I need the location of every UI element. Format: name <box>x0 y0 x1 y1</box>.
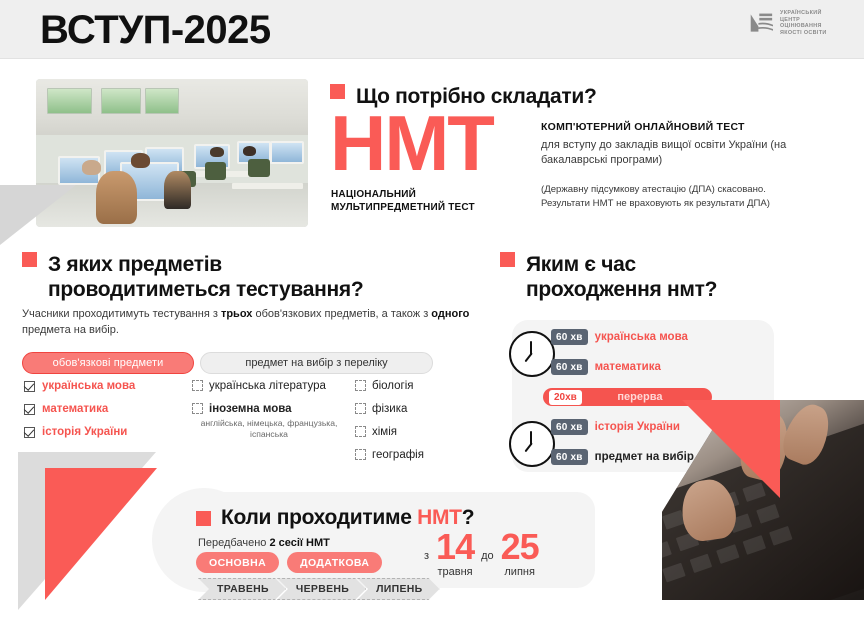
timing-row: 60 хв предмет на вибір <box>551 449 694 465</box>
date-to-prefix: до <box>481 550 494 562</box>
required-subjects-list: українська мова математика історія Украї… <box>24 380 135 449</box>
required-subjects-pill: обов'язкові предмети <box>22 352 194 374</box>
list-item[interactable]: історія України <box>24 426 135 438</box>
session-pill-main[interactable]: ОСНОВНА <box>196 552 279 573</box>
list-item[interactable]: фізика <box>355 403 465 416</box>
break-duration-badge: 20хв <box>549 390 582 405</box>
timing-row: 60 хв історія України <box>551 419 680 435</box>
checkbox-empty-icon[interactable] <box>355 426 366 437</box>
list-item[interactable]: біологія <box>355 380 465 393</box>
nmt-expansion: НАЦІОНАЛЬНИЙ МУЛЬТИПРЕДМЕТНИЙ ТЕСТ <box>331 188 475 214</box>
subject-label: біологія <box>372 380 414 393</box>
date-to-day: 25 <box>501 530 539 564</box>
nmt-description: КОМП'ЮТЕРНИЙ ОНЛАЙНОВИЙ ТЕСТ для вступу … <box>541 120 801 210</box>
date-from: 14 травня <box>436 530 474 578</box>
subject-label: українська мова <box>42 380 135 392</box>
timing-subject-label: українська мова <box>595 331 688 343</box>
optional-subjects-pill: предмет на вибір з переліку <box>200 352 433 374</box>
bullet-square-icon <box>22 252 37 267</box>
nmt-expansion-line1: НАЦІОНАЛЬНИЙ <box>331 188 475 201</box>
heading-when: Коли проходитиме НМТ? <box>196 506 474 530</box>
checkbox-checked-icon[interactable] <box>24 427 35 438</box>
duration-badge: 60 хв <box>551 419 588 435</box>
checkbox-checked-icon[interactable] <box>24 381 35 392</box>
list-item[interactable]: іноземна мова <box>192 403 342 416</box>
checkbox-empty-icon[interactable] <box>355 380 366 391</box>
timing-subject-label: математика <box>595 361 661 373</box>
foreign-language-options: англійська, німецька, французька, іспанс… <box>194 418 344 439</box>
bullet-square-icon <box>196 511 211 526</box>
intro-bold-2: одного <box>431 308 469 320</box>
subject-label: історія України <box>42 426 127 438</box>
book-logo-icon <box>748 11 774 35</box>
list-item[interactable]: математика <box>24 403 135 415</box>
date-from-month: травня <box>437 566 472 578</box>
heading-subjects-label: З яких предметів проводитиметься тестува… <box>48 252 363 302</box>
checkbox-empty-icon[interactable] <box>355 449 366 460</box>
timing-row: 60 хв українська мова <box>551 329 688 345</box>
list-item[interactable]: українська мова <box>24 380 135 392</box>
heading-timing-line1: Яким є час <box>526 253 636 276</box>
logo-line-2: ЦЕНТР <box>780 17 827 24</box>
duration-badge: 60 хв <box>551 329 588 345</box>
clock-icon <box>509 421 555 467</box>
heading-timing-label: Яким є час проходження нмт? <box>526 252 717 302</box>
decor-triangle-red-right <box>682 400 780 498</box>
intro-post: предмета на вибір. <box>22 324 119 336</box>
month-arrow-july: ЛИПЕНЬ <box>357 578 439 600</box>
timing-row: 60 хв математика <box>551 359 661 375</box>
checkbox-empty-icon[interactable] <box>192 403 203 414</box>
nmt-caption: КОМП'ЮТЕРНИЙ ОНЛАЙНОВИЙ ТЕСТ <box>541 120 801 134</box>
intro-pre: Учасники проходитимуть тестування з <box>22 308 221 320</box>
subject-label: географія <box>372 449 424 462</box>
subjects-intro: Учасники проходитимуть тестування з трьо… <box>22 307 470 338</box>
heading-timing: Яким є час проходження нмт? <box>500 252 840 302</box>
ucoqe-logo: УКРАЇНСЬКИЙ ЦЕНТР ОЦІНЮВАННЯ ЯКОСТІ ОСВІ… <box>748 10 827 36</box>
date-from-prefix: з <box>424 550 429 562</box>
sessions-subtitle-pre: Передбачено <box>198 537 269 549</box>
nmt-body: для вступу до закладів вищої освіти Укра… <box>541 138 801 168</box>
subject-label: іноземна мова <box>209 403 292 416</box>
month-timeline: ТРАВЕНЬ ЧЕРВЕНЬ ЛИПЕНЬ <box>198 578 431 600</box>
logo-text: УКРАЇНСЬКИЙ ЦЕНТР ОЦІНЮВАННЯ ЯКОСТІ ОСВІ… <box>780 10 827 36</box>
heading-when-pre: Коли проходитиме <box>221 506 417 529</box>
heading-subjects-line2: проводитиметься тестування? <box>48 278 363 301</box>
heading-subjects-line1: З яких предметів <box>48 253 222 276</box>
subject-label: українська література <box>209 380 326 393</box>
infographic-page: ВСТУП-2025 УКРАЇНСЬКИЙ ЦЕНТР ОЦІНЮВАННЯ … <box>0 0 864 625</box>
intro-mid: обов'язкових предметів, а також з <box>252 308 431 320</box>
list-item[interactable]: географія <box>355 449 465 462</box>
logo-line-3: ОЦІНЮВАННЯ <box>780 23 827 30</box>
list-item[interactable]: українська література <box>192 380 342 393</box>
subject-label: математика <box>42 403 108 415</box>
nmt-acronym: НМТ <box>330 104 493 182</box>
timing-subject-label: предмет на вибір <box>595 451 694 463</box>
nmt-expansion-line2: МУЛЬТИПРЕДМЕТНИЙ ТЕСТ <box>331 201 475 214</box>
heading-timing-line2: проходження нмт? <box>526 278 717 301</box>
heading-subjects: З яких предметів проводитиметься тестува… <box>22 252 472 302</box>
bullet-square-icon <box>330 84 345 99</box>
logo-line-4: ЯКОСТІ ОСВІТИ <box>780 30 827 37</box>
optional-subjects-column-b: біологія фізика хімія географія <box>355 380 465 472</box>
list-item[interactable]: хімія <box>355 426 465 439</box>
date-to: 25 липня <box>501 530 539 578</box>
intro-bold-1: трьох <box>221 308 252 320</box>
checkbox-checked-icon[interactable] <box>24 404 35 415</box>
decor-triangle-red-bottom <box>45 468 157 600</box>
clock-icon <box>509 331 555 377</box>
date-to-month: липня <box>504 566 535 578</box>
session-pill-additional[interactable]: ДОДАТКОВА <box>287 552 382 573</box>
page-title: ВСТУП-2025 <box>40 6 271 54</box>
optional-subjects-column-a: українська література іноземна мова англ… <box>192 380 342 439</box>
checkbox-empty-icon[interactable] <box>192 380 203 391</box>
duration-badge: 60 хв <box>551 449 588 465</box>
sessions-subtitle: Передбачено 2 сесії НМТ <box>198 536 330 550</box>
session-pills: ОСНОВНА ДОДАТКОВА <box>196 552 382 573</box>
subject-label: фізика <box>372 403 407 416</box>
month-arrow-may: ТРАВЕНЬ <box>198 578 286 600</box>
decor-triangle-gray-top <box>0 185 76 245</box>
month-arrow-june: ЧЕРВЕНЬ <box>277 578 366 600</box>
checkbox-empty-icon[interactable] <box>355 403 366 414</box>
subject-label: хімія <box>372 426 397 439</box>
computer-lab-photo <box>36 79 308 227</box>
timing-subject-label: історія України <box>595 421 680 433</box>
sessions-subtitle-bold: 2 сесії НМТ <box>269 537 329 549</box>
date-range: з 14 травня до 25 липня <box>424 530 539 578</box>
duration-badge: 60 хв <box>551 359 588 375</box>
bullet-square-icon <box>500 252 515 267</box>
nmt-note: (Державну підсумкову атестацію (ДПА) ска… <box>541 183 801 210</box>
logo-line-1: УКРАЇНСЬКИЙ <box>780 10 827 17</box>
date-from-day: 14 <box>436 530 474 564</box>
